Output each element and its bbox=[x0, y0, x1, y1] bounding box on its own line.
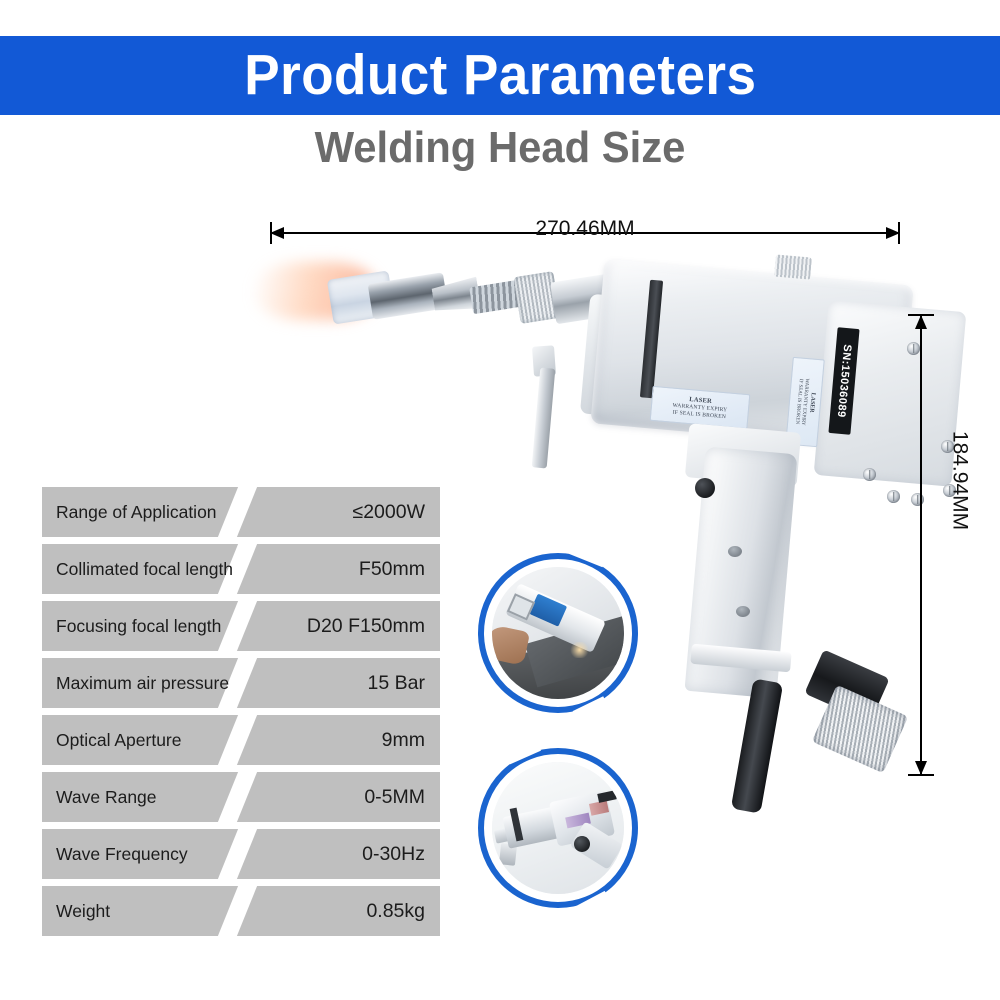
row-divider bbox=[215, 487, 259, 537]
spec-value: F50mm bbox=[359, 544, 425, 594]
inset-photo-image bbox=[492, 762, 624, 894]
spec-value: 0.85kg bbox=[366, 886, 425, 936]
table-row: Weight0.85kg bbox=[42, 886, 440, 936]
row-divider bbox=[215, 886, 259, 936]
inset-photo-head-closeup bbox=[478, 748, 638, 908]
spec-value: D20 F150mm bbox=[307, 601, 425, 651]
specification-table: Range of Application≤2000WCollimated foc… bbox=[42, 487, 440, 943]
height-dimension-label: 184.94MM bbox=[950, 401, 971, 561]
table-row: Wave Frequency0-30Hz bbox=[42, 829, 440, 879]
header-banner: Product Parameters bbox=[0, 36, 1000, 115]
table-row: Focusing focal lengthD20 F150mm bbox=[42, 601, 440, 651]
spec-label: Weight bbox=[56, 886, 110, 936]
spec-value: ≤2000W bbox=[353, 487, 426, 537]
width-dimension-label: 270.46MM bbox=[270, 218, 900, 239]
screw-icon bbox=[911, 493, 924, 506]
spec-value: 0-30Hz bbox=[362, 829, 425, 879]
side-knob bbox=[695, 478, 715, 498]
page-title: Product Parameters bbox=[244, 47, 756, 104]
row-divider bbox=[215, 829, 259, 879]
inset-photo-image bbox=[492, 567, 624, 699]
spec-value: 0-5MM bbox=[364, 772, 425, 822]
row-divider bbox=[215, 601, 259, 651]
spec-value: 15 Bar bbox=[368, 658, 425, 708]
spec-label: Wave Frequency bbox=[56, 829, 188, 879]
table-row: Wave Range0-5MM bbox=[42, 772, 440, 822]
height-dimension-arrow bbox=[920, 315, 922, 775]
table-row: Range of Application≤2000W bbox=[42, 487, 440, 537]
power-cable bbox=[731, 678, 783, 813]
screw-icon bbox=[863, 468, 876, 481]
inset-photo-welding-in-use bbox=[478, 553, 638, 713]
spec-label: Optical Aperture bbox=[56, 715, 181, 765]
spec-value: 9mm bbox=[382, 715, 425, 765]
table-row: Collimated focal lengthF50mm bbox=[42, 544, 440, 594]
spec-label: Collimated focal length bbox=[56, 544, 233, 594]
screw-icon bbox=[907, 342, 920, 355]
screw-icon bbox=[887, 490, 900, 503]
row-divider bbox=[215, 715, 259, 765]
product-parameters-page: Product Parameters Welding Head Size LAS… bbox=[0, 0, 1000, 1000]
spec-label: Focusing focal length bbox=[56, 601, 221, 651]
table-row: Optical Aperture9mm bbox=[42, 715, 440, 765]
section-subtitle: Welding Head Size bbox=[25, 126, 975, 170]
spec-label: Maximum air pressure bbox=[56, 658, 229, 708]
row-divider bbox=[215, 772, 259, 822]
trigger-bracket-arm bbox=[532, 368, 556, 469]
spec-label: Wave Range bbox=[56, 772, 157, 822]
handle-vent-hole bbox=[728, 546, 742, 557]
top-adjust-knob bbox=[774, 254, 812, 279]
table-row: Maximum air pressure15 Bar bbox=[42, 658, 440, 708]
spec-label: Range of Application bbox=[56, 487, 217, 537]
handle-vent-hole bbox=[736, 606, 750, 617]
